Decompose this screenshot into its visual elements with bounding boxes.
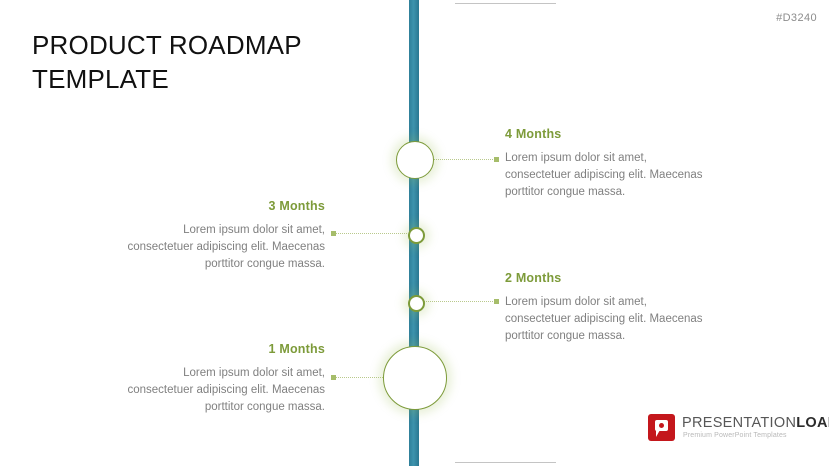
bottom-guide-line [455,462,556,463]
milestone-heading: 3 Months [115,199,325,213]
milestone-2-months: 2 Months Lorem ipsum dolor sit amet, con… [505,271,710,345]
milestone-heading: 1 Months [115,342,325,356]
milestone-body: Lorem ipsum dolor sit amet, consectetuer… [115,222,325,273]
milestone-body: Lorem ipsum dolor sit amet, consectetuer… [115,365,325,416]
connector-line-3-months [335,233,407,235]
page-title-line-1: PRODUCT ROADMAP [32,28,392,62]
document-id: #D3240 [776,12,817,24]
timeline-node-2-months[interactable] [408,295,425,312]
connector-endpoint-4-months [494,157,499,162]
timeline-node-3-months[interactable] [408,227,425,244]
top-guide-line [455,3,556,4]
presentationload-logo[interactable]: PRESENTATIONLOAD® Premium PowerPoint Tem… [648,413,820,447]
logo-name-light: PRESENTATION [682,415,796,431]
logo-name-bold: LOAD [796,415,829,431]
logo-wordmark: PRESENTATIONLOAD® [682,415,829,431]
timeline-node-4-months[interactable] [396,141,434,179]
milestone-3-months: 3 Months Lorem ipsum dolor sit amet, con… [115,199,325,273]
slide-canvas: #D3240 PRODUCT ROADMAP TEMPLATE 4 Months… [0,0,829,466]
milestone-body: Lorem ipsum dolor sit amet, consectetuer… [505,150,710,201]
milestone-1-months: 1 Months Lorem ipsum dolor sit amet, con… [115,342,325,416]
page-title-line-2: TEMPLATE [32,62,392,96]
connector-line-1-months [335,377,385,379]
connector-line-4-months [433,159,495,161]
milestone-4-months: 4 Months Lorem ipsum dolor sit amet, con… [505,127,710,201]
connector-line-2-months [422,301,495,303]
milestone-heading: 2 Months [505,271,710,285]
timeline-node-1-months[interactable] [383,346,447,410]
milestone-heading: 4 Months [505,127,710,141]
speech-bubble-icon [648,414,675,441]
connector-endpoint-3-months [331,231,336,236]
connector-endpoint-1-months [331,375,336,380]
milestone-body: Lorem ipsum dolor sit amet, consectetuer… [505,294,710,345]
page-title: PRODUCT ROADMAP TEMPLATE [32,28,392,96]
logo-tagline: Premium PowerPoint Templates [683,432,787,439]
connector-endpoint-2-months [494,299,499,304]
